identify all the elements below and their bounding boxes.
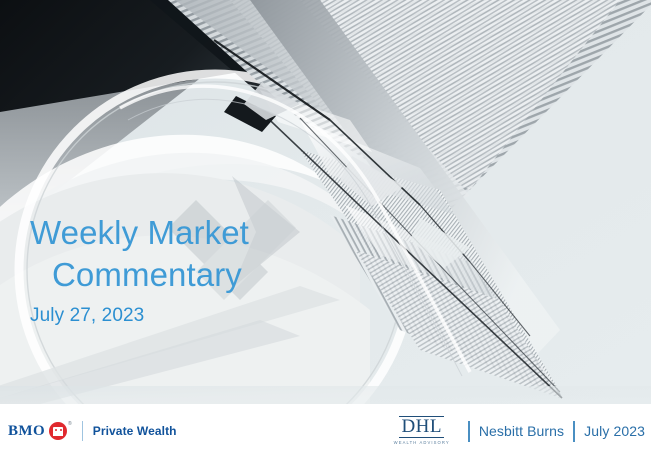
dhl-letters: DHL	[399, 416, 444, 438]
bmo-divider	[82, 421, 83, 441]
bmo-tagline: Private Wealth	[93, 424, 177, 438]
partner-divider-1	[468, 421, 470, 442]
bmo-wordmark: BMO	[8, 423, 45, 439]
title-block: Weekly Market Commentary July 27, 2023	[30, 212, 360, 328]
partner-logo-lockup: DHL Wealth Advisory Nesbitt Burns July 2…	[394, 416, 645, 446]
slide-date: July 27, 2023	[30, 304, 360, 328]
hero-image	[0, 0, 651, 404]
partner-name: Nesbitt Burns	[479, 423, 564, 439]
dhl-logo: DHL Wealth Advisory	[394, 416, 450, 446]
hero-illustration	[0, 0, 651, 404]
bmo-roundel-icon	[49, 422, 67, 440]
presentation-slide: Weekly Market Commentary July 27, 2023 B…	[0, 0, 651, 458]
bmo-logo-lockup: BMO ® Private Wealth	[8, 420, 177, 442]
partner-divider-2	[573, 421, 575, 442]
bmo-trademark-symbol: ®	[68, 421, 72, 427]
slide-title-line-2: Commentary	[30, 254, 360, 296]
dhl-subtitle: Wealth Advisory	[394, 439, 450, 446]
partner-period: July 2023	[584, 423, 645, 439]
slide-title-line-1: Weekly Market	[30, 212, 360, 254]
slide-footer: BMO ® Private Wealth DHL Wealth Advisory…	[0, 404, 651, 458]
bmo-m-glyph	[53, 427, 63, 436]
